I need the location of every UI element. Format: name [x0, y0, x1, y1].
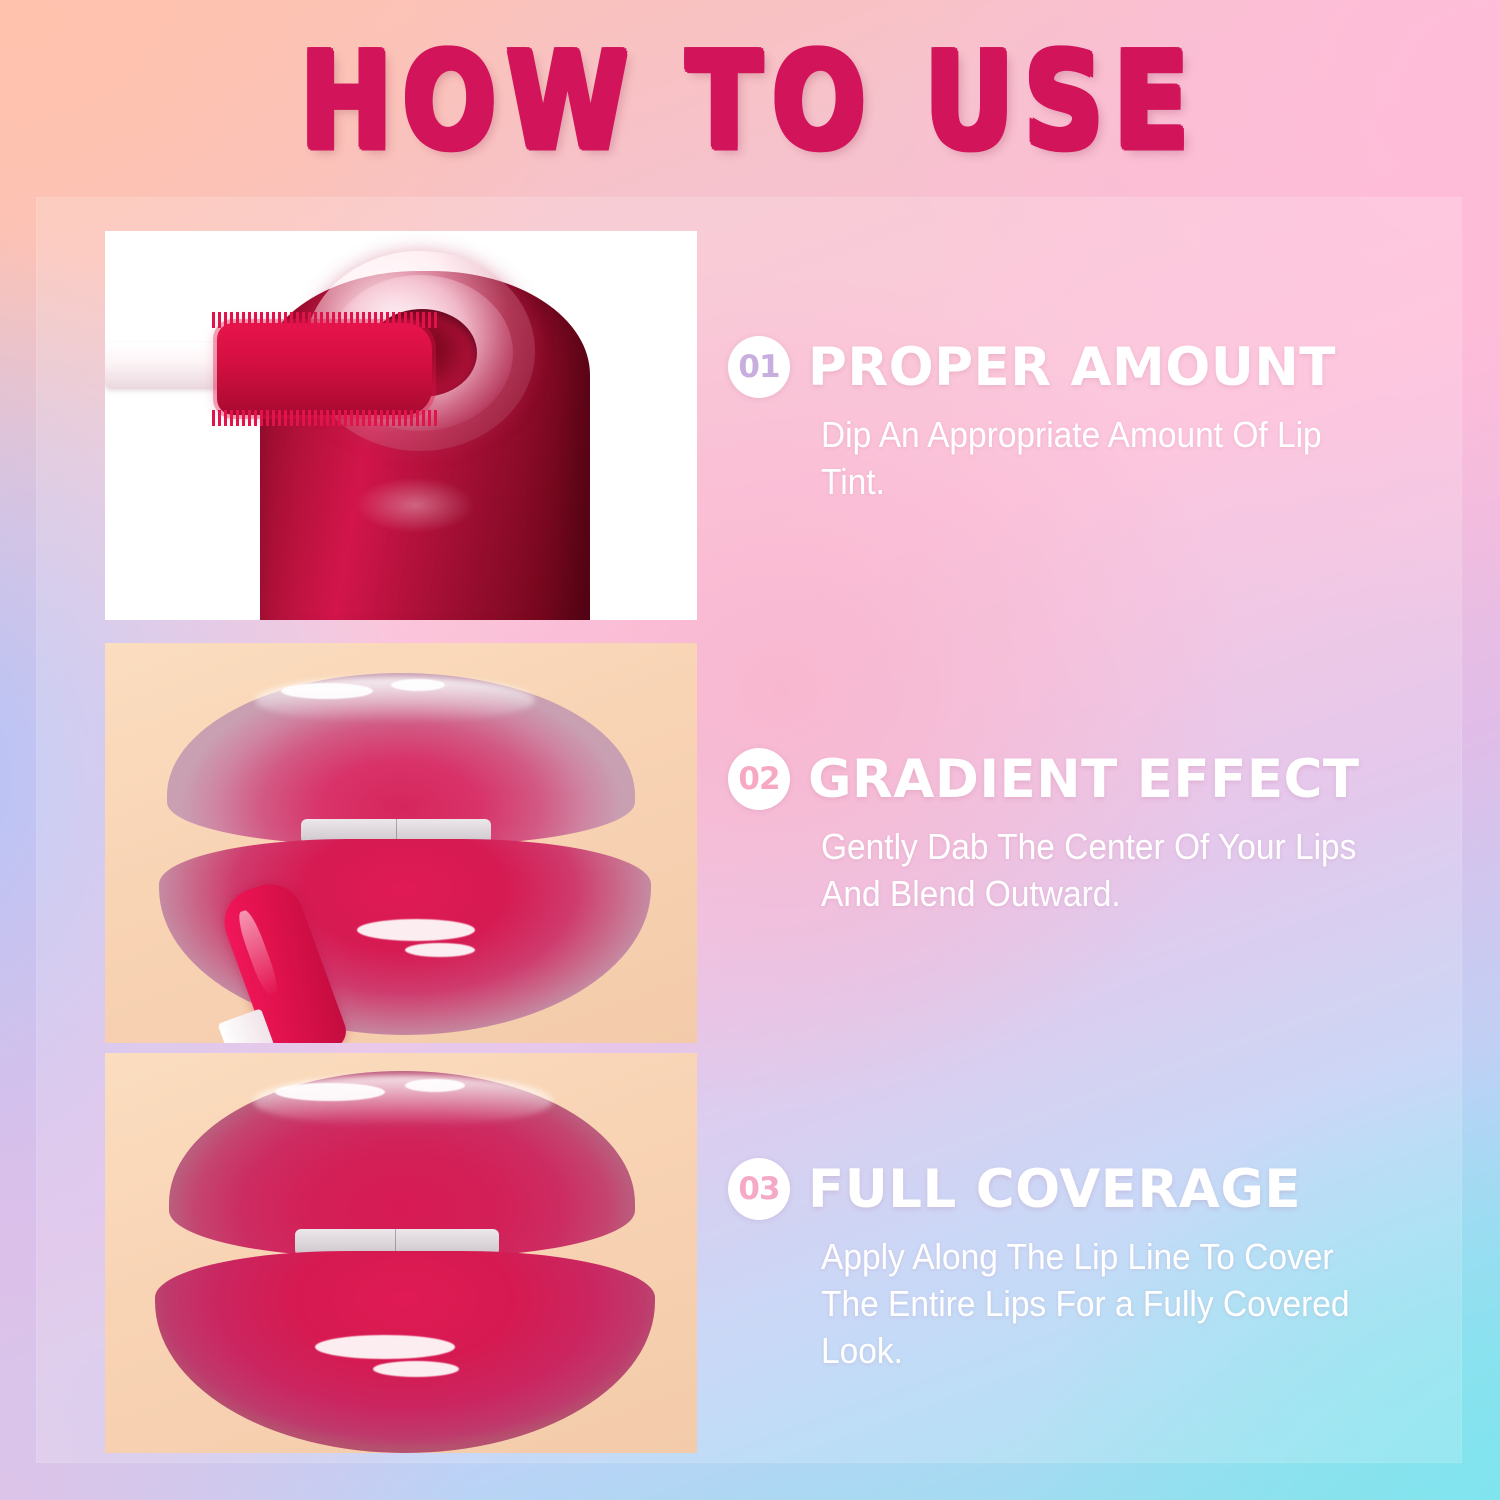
step-description: Gently Dab The Center Of Your Lips And B…: [728, 824, 1379, 918]
step-description: Apply Along The Lip Line To Cover The En…: [728, 1234, 1379, 1374]
step-header: 03 FULL COVERAGE: [728, 1158, 1428, 1220]
step-photo-full-coverage-lips: [105, 1053, 697, 1453]
applicator-tip-illustration: [217, 323, 432, 415]
step-photo-gradient-lips: [105, 643, 697, 1043]
step-number-badge: 02: [728, 748, 790, 810]
lower-lip-highlight-2: [373, 1361, 459, 1377]
step-item-full-coverage: 03 FULL COVERAGE Apply Along The Lip Lin…: [728, 1158, 1428, 1374]
step-item-gradient-effect: 02 GRADIENT EFFECT Gently Dab The Center…: [728, 748, 1428, 918]
step-number-badge: 03: [728, 1158, 790, 1220]
step-title: FULL COVERAGE: [808, 1159, 1301, 1220]
lower-lip-highlight: [357, 919, 475, 941]
lower-lip-highlight: [315, 1335, 455, 1359]
step-item-proper-amount: 01 PROPER AMOUNT Dip An Appropriate Amou…: [728, 336, 1428, 506]
step-header: 01 PROPER AMOUNT: [728, 336, 1428, 398]
step-header: 02 GRADIENT EFFECT: [728, 748, 1428, 810]
upper-lip-highlight-2: [405, 1079, 465, 1092]
upper-lip-highlight-2: [391, 679, 445, 691]
step-number-badge: 01: [728, 336, 790, 398]
step-title: GRADIENT EFFECT: [808, 749, 1360, 810]
bottle-shine-highlight: [355, 477, 475, 533]
lower-lip-highlight-2: [405, 943, 475, 957]
upper-lip-gloss-band: [253, 1075, 553, 1127]
step-title: PROPER AMOUNT: [808, 337, 1336, 398]
upper-lip-highlight: [275, 1083, 385, 1101]
step-photo-bottle: [105, 231, 697, 620]
step-description: Dip An Appropriate Amount Of Lip Tint.: [728, 412, 1379, 506]
upper-lip-highlight: [281, 683, 373, 699]
